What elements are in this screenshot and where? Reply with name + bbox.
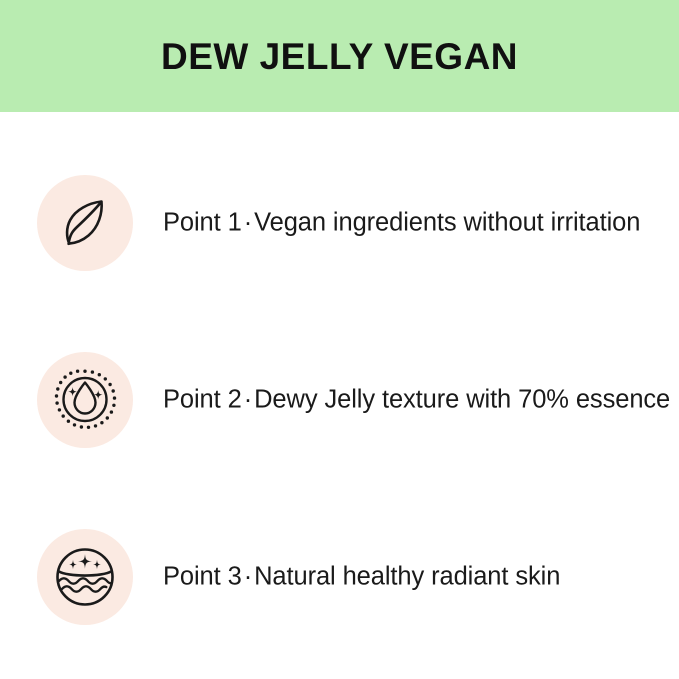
icon-badge-3 (37, 529, 133, 625)
point-label-2: Point 2 (163, 386, 242, 414)
product-feature-infographic: DEW JELLY VEGAN Point 1·Vegan ingredient… (0, 0, 679, 679)
point-description-3: Natural healthy radiant skin (254, 563, 560, 591)
leaf-icon (55, 193, 115, 253)
radiant-skin-icon (54, 546, 116, 608)
point-description-1: Vegan ingredients without irritation (254, 209, 640, 237)
list-item: Point 1·Vegan ingredients without irrita… (0, 175, 679, 271)
water-droplet-sparkle-icon (53, 368, 117, 432)
icon-badge-2 (37, 352, 133, 448)
point-separator-2: · (242, 386, 254, 414)
point-label-1: Point 1 (163, 209, 242, 237)
point-separator-1: · (242, 209, 254, 237)
page-title: DEW JELLY VEGAN (161, 38, 518, 75)
point-text-2: Point 2·Dewy Jelly texture with 70% esse… (163, 385, 670, 416)
point-text-1: Point 1·Vegan ingredients without irrita… (163, 208, 640, 239)
points-list: Point 1·Vegan ingredients without irrita… (0, 112, 679, 679)
header-banner: DEW JELLY VEGAN (0, 0, 679, 112)
list-item: Point 3·Natural healthy radiant skin (0, 529, 679, 625)
list-item: Point 2·Dewy Jelly texture with 70% esse… (0, 352, 679, 448)
icon-badge-1 (37, 175, 133, 271)
point-text-3: Point 3·Natural healthy radiant skin (163, 562, 560, 593)
point-label-3: Point 3 (163, 563, 242, 591)
point-separator-3: · (242, 563, 254, 591)
point-description-2: Dewy Jelly texture with 70% essence (254, 386, 670, 414)
